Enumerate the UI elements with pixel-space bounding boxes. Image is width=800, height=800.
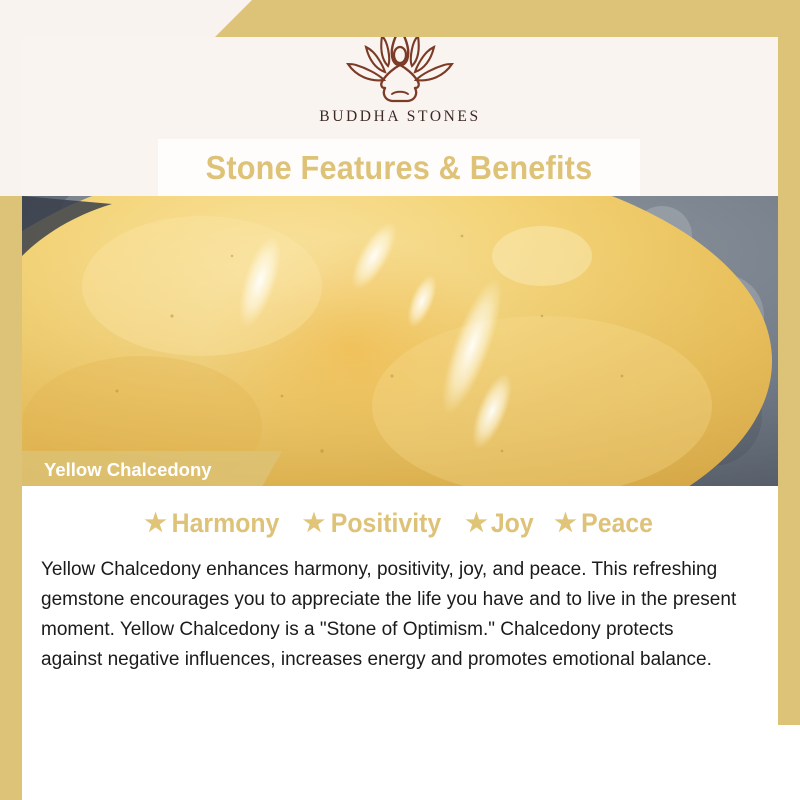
keyword-label: Peace: [581, 508, 653, 539]
content-section: ★ Harmony ★ Positivity ★ Joy ★ Peace Yel…: [22, 486, 778, 763]
star-icon: ★: [465, 511, 487, 536]
description-paragraph: Yellow Chalcedony enhances harmony, posi…: [41, 554, 737, 674]
infographic-page: BUDDHA STONES Stone Features & Benefits: [0, 0, 800, 800]
gold-band-left: [0, 196, 22, 800]
stone-photo: [22, 196, 778, 486]
keyword-row: ★ Harmony ★ Positivity ★ Joy ★ Peace: [22, 508, 778, 539]
brand-name: BUDDHA STONES: [319, 108, 480, 126]
keyword-item: ★ Joy: [465, 508, 535, 539]
gold-band-top-right: [215, 0, 800, 37]
star-icon: ★: [303, 511, 325, 536]
bottom-white-strip: [22, 763, 778, 800]
keyword-item: ★ Harmony: [144, 508, 283, 539]
stone-name-label: Yellow Chalcedony: [44, 459, 212, 481]
star-icon: ★: [554, 511, 576, 536]
gold-band-right: [778, 37, 800, 725]
brand-logo: BUDDHA STONES: [0, 22, 800, 126]
page-title: Stone Features & Benefits: [175, 139, 623, 196]
keyword-label: Positivity: [331, 508, 441, 539]
keyword-item: ★ Peace: [554, 508, 656, 539]
keyword-item: ★ Positivity: [303, 508, 446, 539]
star-icon: ★: [144, 511, 166, 536]
keyword-label: Harmony: [171, 508, 279, 539]
keyword-label: Joy: [491, 508, 534, 539]
